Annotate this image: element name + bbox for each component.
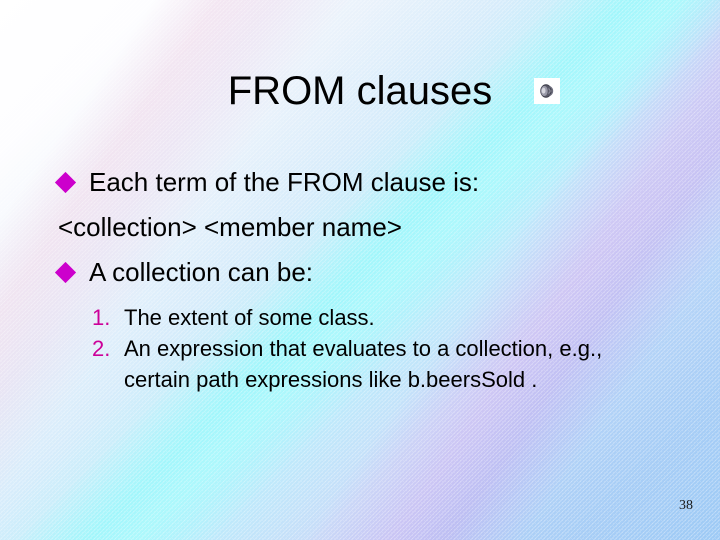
page-number: 38 bbox=[679, 498, 693, 514]
bullet-item-2: A collection can be: bbox=[58, 250, 678, 294]
diamond-bullet-icon bbox=[55, 172, 76, 193]
bullet-item-1-label: Each term of the FROM clause is: bbox=[89, 160, 479, 204]
list-item-2-label: An expression that evaluates to a collec… bbox=[124, 333, 644, 395]
numbered-list: 1. The extent of some class. 2. An expre… bbox=[58, 302, 678, 395]
list-item-1-label: The extent of some class. bbox=[124, 302, 644, 333]
slide-canvas: FROM clauses Each term of the FROM claus… bbox=[0, 0, 720, 540]
syntax-line: <collection> <member name> bbox=[58, 204, 678, 250]
title-block: FROM clauses bbox=[0, 68, 720, 114]
list-item-2-marker: 2. bbox=[92, 333, 124, 364]
page-title: FROM clauses bbox=[228, 68, 493, 114]
bullet-item-2-label: A collection can be: bbox=[89, 250, 313, 294]
list-item-1-marker: 1. bbox=[92, 302, 124, 333]
diamond-bullet-icon bbox=[55, 262, 76, 283]
body-block: Each term of the FROM clause is: <collec… bbox=[58, 160, 678, 395]
slide-content: FROM clauses Each term of the FROM claus… bbox=[0, 0, 720, 540]
list-item: 2. An expression that evaluates to a col… bbox=[92, 333, 678, 395]
list-item: 1. The extent of some class. bbox=[92, 302, 678, 333]
bullet-item-1: Each term of the FROM clause is: bbox=[58, 160, 678, 204]
sound-icon[interactable] bbox=[534, 78, 560, 104]
